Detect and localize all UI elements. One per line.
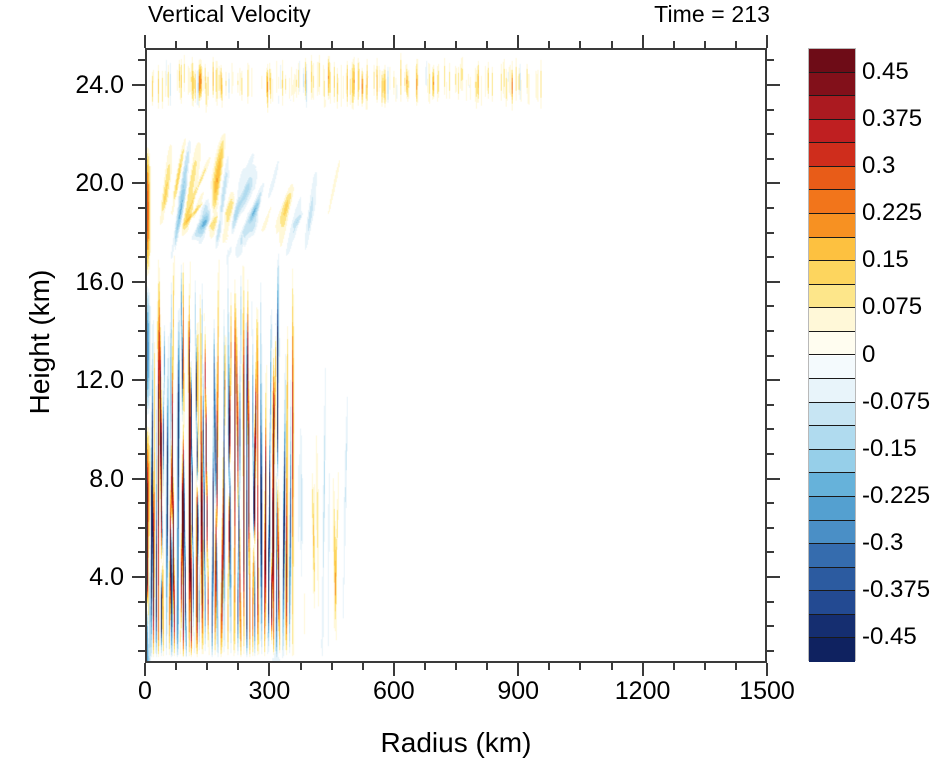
x-minor-tick [300, 663, 302, 670]
colorbar-tick-label: 0.45 [862, 58, 935, 86]
colorbar-segment [809, 497, 855, 521]
x-major-tick-top [393, 35, 395, 48]
colorbar-segment [809, 308, 855, 332]
colorbar-segment [809, 638, 855, 662]
x-minor-tick [673, 663, 675, 670]
y-minor-tick-right [767, 551, 774, 553]
y-major-tick [132, 379, 145, 381]
colorbar-segment [809, 450, 855, 474]
colorbar-tick-label: 0.075 [862, 293, 935, 321]
y-minor-tick [138, 207, 145, 209]
colorbar-segment [809, 285, 855, 309]
y-minor-tick [138, 502, 145, 504]
y-minor-tick-right [767, 428, 774, 430]
x-tick-label: 900 [458, 676, 578, 706]
x-minor-tick [455, 663, 457, 670]
y-minor-tick [138, 601, 145, 603]
x-minor-tick-top [331, 41, 333, 48]
figure-root: Vertical Velocity Time = 213 03006009001… [0, 0, 935, 774]
y-minor-tick [138, 625, 145, 627]
colorbar-segment [809, 426, 855, 450]
y-minor-tick [138, 109, 145, 111]
y-major-tick-right [767, 576, 780, 578]
plot-area [145, 48, 767, 663]
x-major-tick-top [766, 35, 768, 48]
y-minor-tick-right [767, 404, 774, 406]
x-tick-label: 1200 [583, 676, 703, 706]
colorbar-segment [809, 544, 855, 568]
colorbar-segment [809, 615, 855, 639]
x-minor-tick-top [175, 41, 177, 48]
y-minor-tick [138, 404, 145, 406]
x-minor-tick [362, 663, 364, 670]
colorbar-segment [809, 49, 855, 73]
x-minor-tick [704, 663, 706, 670]
y-minor-tick-right [767, 453, 774, 455]
y-major-tick [132, 478, 145, 480]
colorbar [808, 48, 856, 661]
x-minor-tick [486, 663, 488, 670]
x-tick-label: 1500 [707, 676, 827, 706]
y-minor-tick-right [767, 601, 774, 603]
x-minor-tick [611, 663, 613, 670]
y-minor-tick-right [767, 133, 774, 135]
y-minor-tick [138, 330, 145, 332]
y-minor-tick-right [767, 59, 774, 61]
y-minor-tick-right [767, 355, 774, 357]
x-minor-tick-top [362, 41, 364, 48]
colorbar-segment [809, 568, 855, 592]
x-minor-tick-top [206, 41, 208, 48]
y-major-tick [132, 84, 145, 86]
x-major-tick [517, 663, 519, 676]
y-tick-label: 16.0 [0, 267, 124, 297]
y-tick-label: 12.0 [0, 365, 124, 395]
x-minor-tick-top [548, 41, 550, 48]
x-minor-tick-top [300, 41, 302, 48]
colorbar-tick-label: -0.225 [862, 482, 935, 510]
colorbar-segment [809, 143, 855, 167]
x-minor-tick [579, 663, 581, 670]
colorbar-segment [809, 167, 855, 191]
y-minor-tick-right [767, 207, 774, 209]
y-tick-label: 8.0 [0, 464, 124, 494]
colorbar-tick-label: -0.15 [862, 435, 935, 463]
y-minor-tick [138, 428, 145, 430]
colorbar-segment [809, 214, 855, 238]
colorbar-segment [809, 73, 855, 97]
y-minor-tick-right [767, 109, 774, 111]
x-minor-tick-top [579, 41, 581, 48]
colorbar-segment [809, 521, 855, 545]
x-tick-label: 0 [85, 676, 205, 706]
x-minor-tick [424, 663, 426, 670]
x-minor-tick-top [673, 41, 675, 48]
y-minor-tick [138, 650, 145, 652]
y-minor-tick [138, 133, 145, 135]
y-minor-tick [138, 305, 145, 307]
y-minor-tick [138, 232, 145, 234]
y-minor-tick-right [767, 650, 774, 652]
y-minor-tick-right [767, 502, 774, 504]
y-tick-label: 4.0 [0, 562, 124, 592]
x-major-tick-top [144, 35, 146, 48]
y-major-tick-right [767, 379, 780, 381]
colorbar-tick-label: -0.375 [862, 576, 935, 604]
colorbar-segment [809, 238, 855, 262]
y-minor-tick-right [767, 330, 774, 332]
x-major-tick [766, 663, 768, 676]
colorbar-segment [809, 356, 855, 380]
y-minor-tick [138, 256, 145, 258]
y-tick-label: 24.0 [0, 70, 124, 100]
x-major-tick-top [517, 35, 519, 48]
colorbar-segment [809, 190, 855, 214]
x-minor-tick-top [704, 41, 706, 48]
x-minor-tick-top [424, 41, 426, 48]
x-major-tick [268, 663, 270, 676]
colorbar-segment [809, 473, 855, 497]
colorbar-tick-label: 0 [862, 341, 935, 369]
colorbar-tick-label: -0.45 [862, 623, 935, 651]
x-major-tick [393, 663, 395, 676]
x-major-tick [144, 663, 146, 676]
x-minor-tick [735, 663, 737, 670]
colorbar-tick-label: 0.15 [862, 246, 935, 274]
colorbar-tick-label: 0.375 [862, 105, 935, 133]
x-minor-tick-top [486, 41, 488, 48]
x-minor-tick-top [611, 41, 613, 48]
x-minor-tick [331, 663, 333, 670]
y-minor-tick-right [767, 256, 774, 258]
colorbar-segment [809, 332, 855, 356]
y-minor-tick-right [767, 232, 774, 234]
x-minor-tick [237, 663, 239, 670]
colorbar-segment [809, 261, 855, 285]
y-minor-tick [138, 355, 145, 357]
y-minor-tick-right [767, 527, 774, 529]
x-minor-tick [548, 663, 550, 670]
y-major-tick-right [767, 84, 780, 86]
y-major-tick-right [767, 182, 780, 184]
y-major-tick [132, 281, 145, 283]
colorbar-tick-label: 0.3 [862, 152, 935, 180]
colorbar-segment [809, 591, 855, 615]
x-minor-tick-top [735, 41, 737, 48]
colorbar-tick-label: 0.225 [862, 199, 935, 227]
y-axis-title: Height (km) [23, 212, 57, 472]
y-minor-tick-right [767, 625, 774, 627]
colorbar-gradient [808, 48, 856, 661]
x-tick-label: 300 [209, 676, 329, 706]
y-minor-tick-right [767, 158, 774, 160]
y-minor-tick-right [767, 305, 774, 307]
x-minor-tick-top [237, 41, 239, 48]
x-major-tick-top [642, 35, 644, 48]
x-major-tick-top [268, 35, 270, 48]
x-minor-tick [206, 663, 208, 670]
x-axis-title: Radius (km) [145, 726, 767, 760]
y-major-tick [132, 182, 145, 184]
x-major-tick [642, 663, 644, 676]
y-major-tick-right [767, 478, 780, 480]
y-minor-tick [138, 158, 145, 160]
colorbar-segment [809, 96, 855, 120]
y-major-tick-right [767, 281, 780, 283]
colorbar-segment [809, 120, 855, 144]
time-annotation: Time = 213 [470, 1, 770, 27]
y-minor-tick [138, 551, 145, 553]
x-minor-tick-top [455, 41, 457, 48]
colorbar-segment [809, 379, 855, 403]
heatmap-field [147, 50, 765, 661]
x-minor-tick [175, 663, 177, 670]
y-minor-tick [138, 59, 145, 61]
y-tick-label: 20.0 [0, 168, 124, 198]
y-major-tick [132, 576, 145, 578]
y-minor-tick [138, 453, 145, 455]
colorbar-segment [809, 403, 855, 427]
x-tick-label: 600 [334, 676, 454, 706]
colorbar-tick-label: -0.075 [862, 388, 935, 416]
y-minor-tick [138, 527, 145, 529]
colorbar-tick-label: -0.3 [862, 529, 935, 557]
